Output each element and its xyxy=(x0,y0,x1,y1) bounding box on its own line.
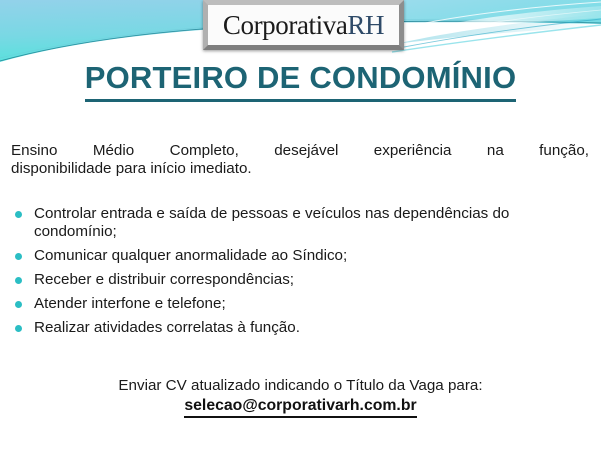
contact-email-link[interactable]: selecao@corporativarh.com.br xyxy=(184,396,416,418)
footer-contact: Enviar CV atualizado indicando o Título … xyxy=(0,376,601,418)
intro-line-2: disponibilidade para início imediato. xyxy=(11,160,589,178)
bullet-dot-icon xyxy=(15,277,22,284)
logo-text: CorporativaRH xyxy=(223,12,384,39)
logo-word-corporativa: Corporativa xyxy=(223,10,348,40)
slide-canvas: CorporativaRH PORTEIRO DE CONDOMÍNIO Ens… xyxy=(0,0,601,451)
list-item-label: Controlar entrada e saída de pessoas e v… xyxy=(34,205,509,240)
duties-list: Controlar entrada e saída de pessoas e v… xyxy=(12,205,592,343)
bullet-dot-icon xyxy=(15,211,22,218)
list-item-label: Realizar atividades correlatas à função. xyxy=(34,319,300,336)
page-title-container: PORTEIRO DE CONDOMÍNIO xyxy=(0,60,601,102)
list-item-label: Receber e distribuir correspondências; xyxy=(34,271,294,288)
list-item: Receber e distribuir correspondências; xyxy=(12,271,592,289)
page-title: PORTEIRO DE CONDOMÍNIO xyxy=(85,60,517,102)
list-item: Realizar atividades correlatas à função. xyxy=(12,319,592,337)
bullet-dot-icon xyxy=(15,325,22,332)
list-item: Comunicar qualquer anormalidade ao Síndi… xyxy=(12,247,592,265)
intro-line-1: Ensino Médio Completo, desejável experiê… xyxy=(11,142,589,160)
company-logo: CorporativaRH xyxy=(203,0,404,50)
bullet-dot-icon xyxy=(15,253,22,260)
list-item-label: Comunicar qualquer anormalidade ao Síndi… xyxy=(34,247,347,264)
apply-instruction: Enviar CV atualizado indicando o Título … xyxy=(0,376,601,395)
list-item: Atender interfone e telefone; xyxy=(12,295,592,313)
logo-word-rh: RH xyxy=(347,10,384,40)
list-item: Controlar entrada e saída de pessoas e v… xyxy=(12,205,592,242)
list-item-label: Atender interfone e telefone; xyxy=(34,295,226,312)
requirements-intro: Ensino Médio Completo, desejável experiê… xyxy=(11,142,589,179)
bullet-dot-icon xyxy=(15,301,22,308)
